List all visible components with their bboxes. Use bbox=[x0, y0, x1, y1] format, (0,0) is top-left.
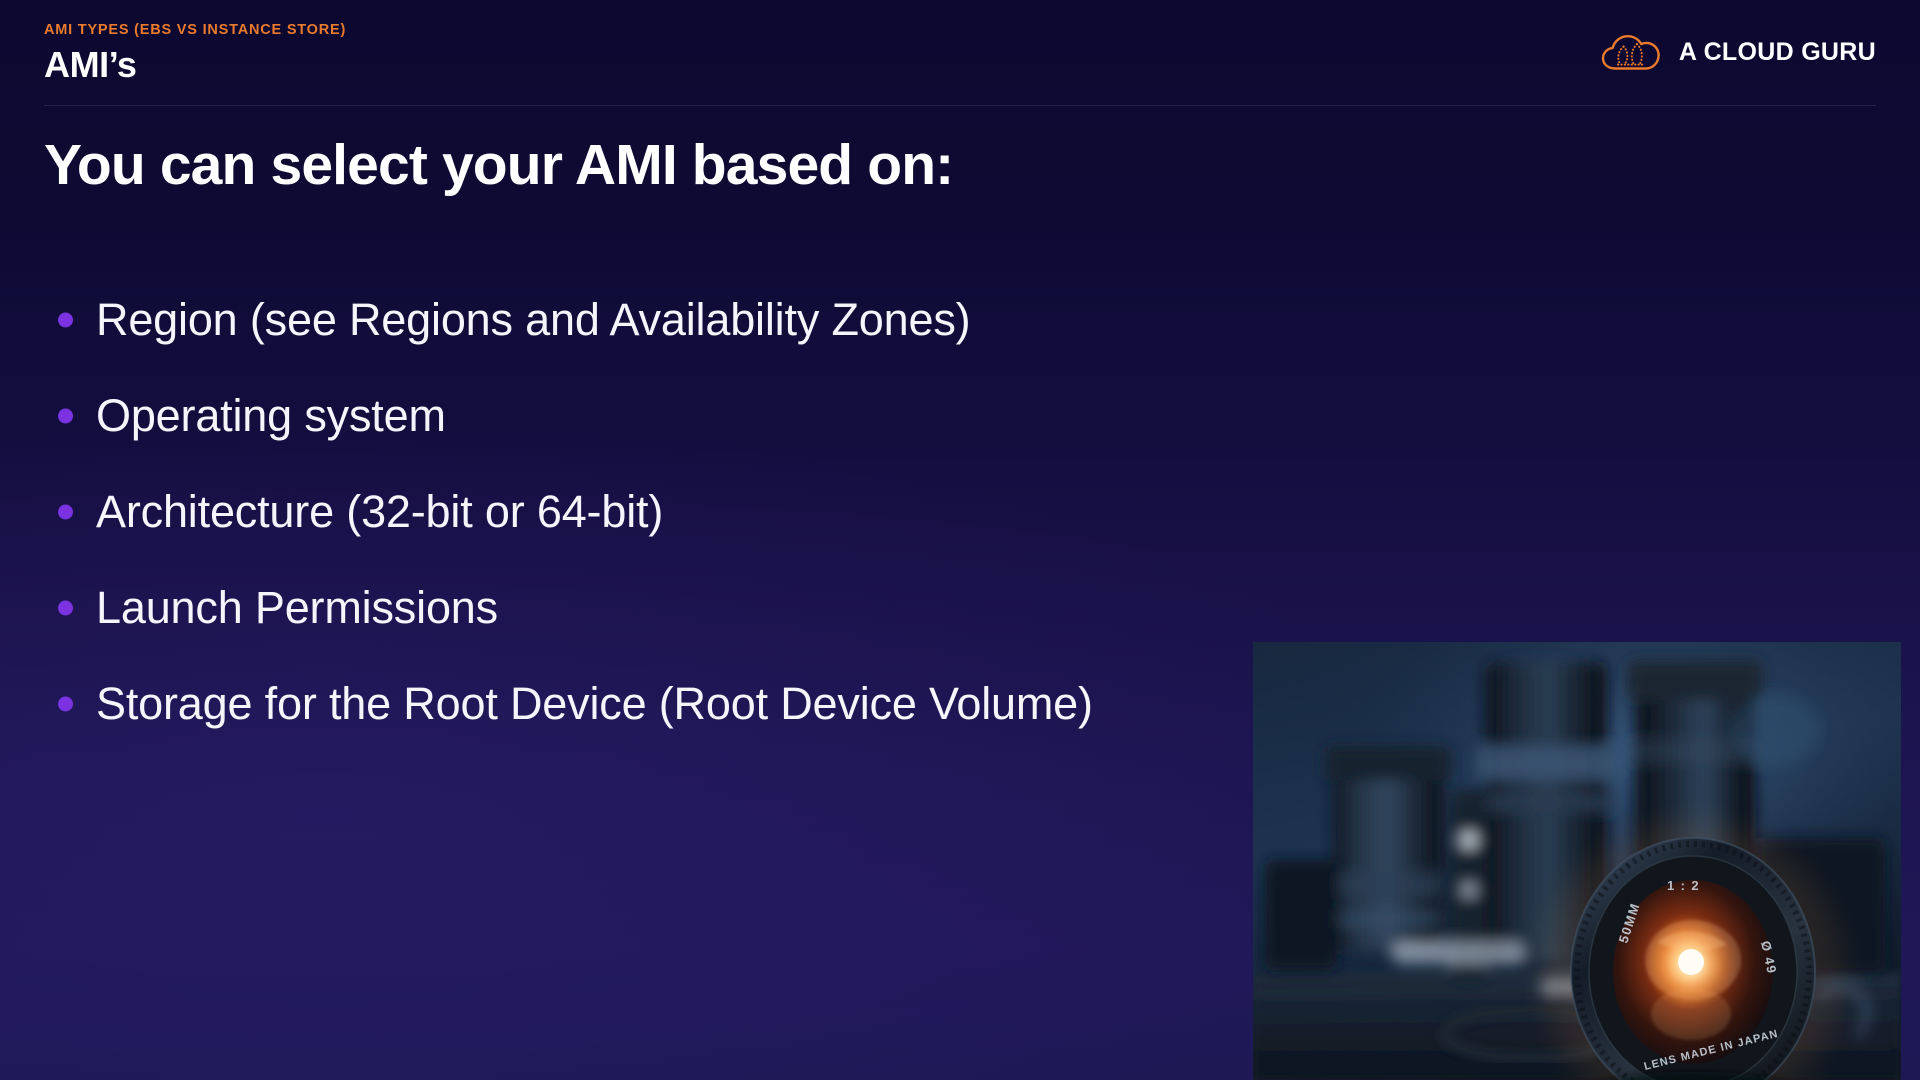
list-item: Operating system bbox=[58, 368, 1618, 464]
bullet-dot-icon bbox=[58, 313, 73, 328]
bullet-dot-icon bbox=[58, 409, 73, 424]
section-eyebrow: AMI TYPES (EBS VS INSTANCE STORE) bbox=[44, 22, 346, 38]
list-item-label: Storage for the Root Device (Root Device… bbox=[96, 678, 1093, 730]
content-headline: You can select your AMI based on: bbox=[44, 132, 953, 198]
list-item: Architecture (32-bit or 64-bit) bbox=[58, 464, 1618, 560]
list-item-label: Region (see Regions and Availability Zon… bbox=[96, 294, 970, 346]
bullet-dot-icon bbox=[58, 697, 73, 712]
cloud-icon bbox=[1601, 32, 1663, 72]
camera-lenses-photo: 50MM 1 : 2 Ø 49 LENS MADE IN JAPAN bbox=[1253, 642, 1901, 1080]
list-item-label: Operating system bbox=[96, 390, 446, 442]
list-item: Region (see Regions and Availability Zon… bbox=[58, 272, 1618, 368]
slide: AMI TYPES (EBS VS INSTANCE STORE) AMI’s … bbox=[0, 0, 1920, 1080]
list-item-label: Launch Permissions bbox=[96, 582, 498, 634]
lens-aperture: 1 : 2 bbox=[1667, 878, 1700, 893]
brand-name: A CLOUD GURU bbox=[1679, 38, 1876, 67]
brand-logo: A CLOUD GURU bbox=[1601, 30, 1876, 74]
slide-header: AMI TYPES (EBS VS INSTANCE STORE) AMI’s … bbox=[0, 0, 1920, 106]
page-title: AMI’s bbox=[44, 44, 137, 86]
bullet-dot-icon bbox=[58, 505, 73, 520]
bullet-dot-icon bbox=[58, 601, 73, 616]
header-divider bbox=[44, 105, 1876, 106]
list-item-label: Architecture (32-bit or 64-bit) bbox=[96, 486, 663, 538]
